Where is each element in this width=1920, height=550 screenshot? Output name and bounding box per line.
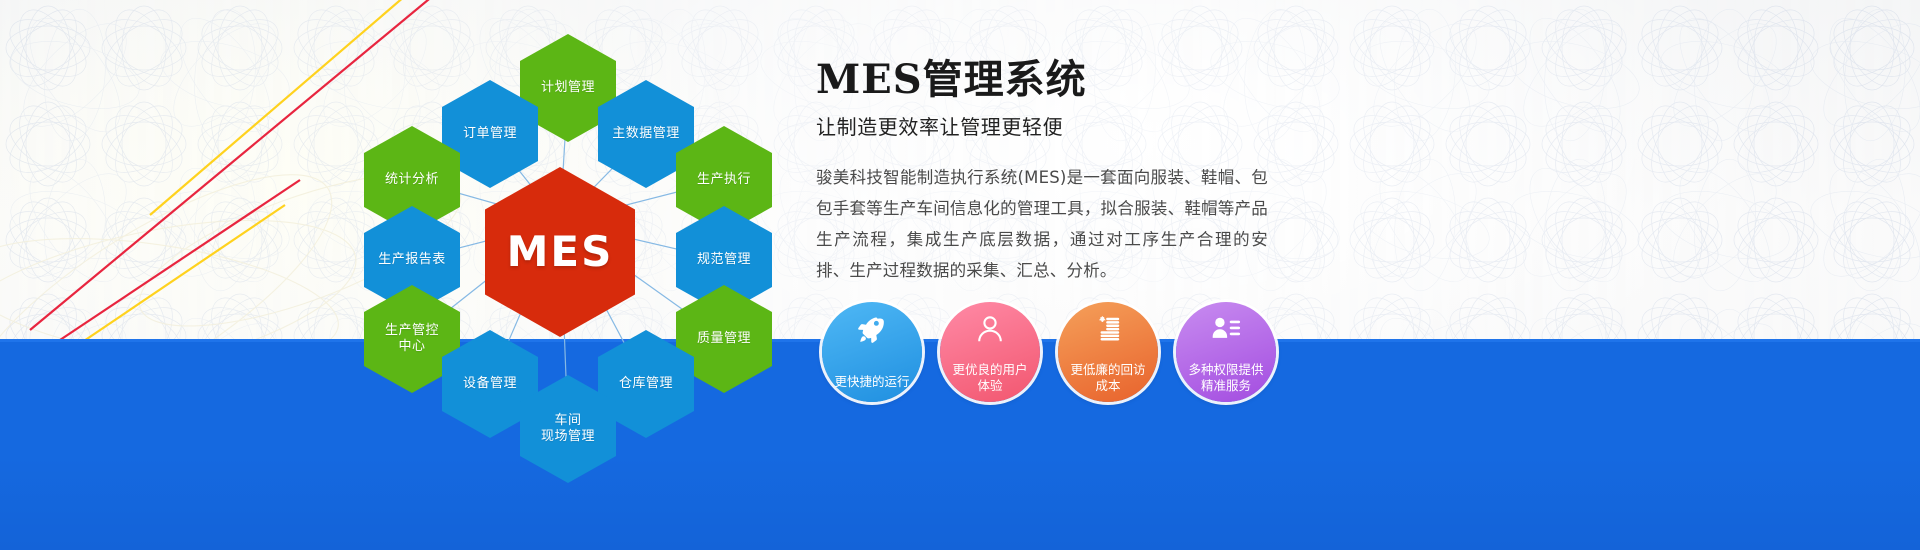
hexagon-node-label: 生产报告表 bbox=[378, 252, 446, 268]
hexagon-node-label: 计划管理 bbox=[541, 80, 595, 96]
rocket-icon bbox=[857, 314, 887, 344]
hexagon-node-label: 车间 现场管理 bbox=[541, 413, 595, 446]
feature-badge-label: 更快捷的运行 bbox=[828, 374, 915, 390]
mes-hexagon-diagram: 计划管理订单管理主数据管理统计分析生产执行生产报告表规范管理生产管控 中心质量管… bbox=[330, 22, 790, 422]
hexagon-node-label: 仓库管理 bbox=[619, 376, 673, 392]
feature-badge-label: 多种权限提供 精准服务 bbox=[1182, 362, 1269, 394]
feature-badge-3[interactable]: ¥更低廉的回访 成本 bbox=[1058, 302, 1158, 402]
hexagon-node-label: 主数据管理 bbox=[612, 126, 680, 142]
feature-badge-label: 更优良的用户 体验 bbox=[946, 362, 1033, 394]
user-icon bbox=[975, 314, 1005, 344]
feature-badge-4[interactable]: 多种权限提供 精准服务 bbox=[1176, 302, 1276, 402]
intro-paragraph: 骏美科技智能制造执行系统(MES)是一套面向服装、鞋帽、包包手套等生产车间信息化… bbox=[816, 162, 1268, 286]
feature-badge-list: 更快捷的运行更优良的用户 体验¥更低廉的回访 成本多种权限提供 精准服务 bbox=[822, 302, 1276, 402]
hexagon-node-label: 订单管理 bbox=[463, 126, 517, 142]
money-stack-icon: ¥ bbox=[1093, 314, 1123, 344]
hexagon-node-label: 质量管理 bbox=[697, 331, 751, 347]
hexagon-node-label: 生产执行 bbox=[697, 172, 751, 188]
page-title: MES管理系统 bbox=[816, 58, 1876, 102]
page-subtitle: 让制造更效率让管理更轻便 bbox=[816, 111, 1876, 140]
feature-badge-1[interactable]: 更快捷的运行 bbox=[822, 302, 922, 402]
hexagon-node-label: 生产管控 中心 bbox=[385, 323, 439, 356]
feature-badge-2[interactable]: 更优良的用户 体验 bbox=[940, 302, 1040, 402]
hexagon-node-label: 设备管理 bbox=[463, 376, 517, 392]
hexagon-node-label: 规范管理 bbox=[697, 252, 751, 268]
hexagon-node-label: 统计分析 bbox=[385, 172, 439, 188]
banner-copy: MES管理系统 让制造更效率让管理更轻便 骏美科技智能制造执行系统(MES)是一… bbox=[816, 58, 1876, 286]
feature-badge-label: 更低廉的回访 成本 bbox=[1064, 362, 1151, 394]
banner-stage: 计划管理订单管理主数据管理统计分析生产执行生产报告表规范管理生产管控 中心质量管… bbox=[0, 0, 1920, 550]
user-list-icon bbox=[1211, 314, 1241, 344]
